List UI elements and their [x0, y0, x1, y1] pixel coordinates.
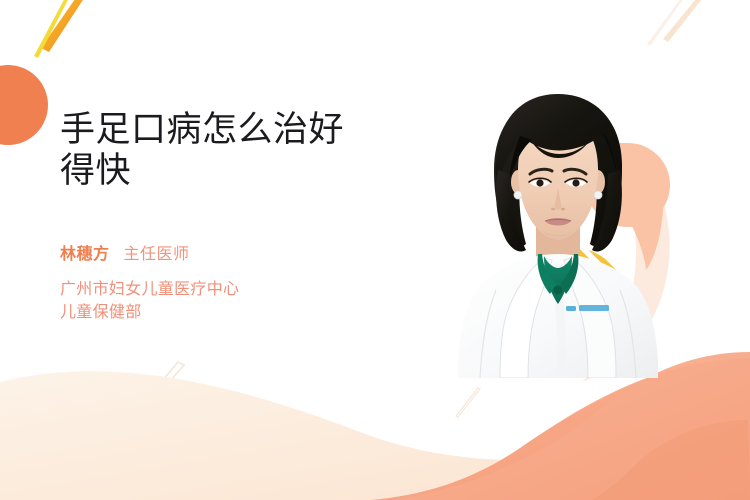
doctor-credit-block: 林穗方主任医师 广州市妇女儿童医疗中心 儿童保健部 [60, 243, 420, 324]
doctor-identity-line: 林穗方主任医师 [60, 243, 420, 267]
doctor-feature-card: 手足口病怎么治好 得快 林穗方主任医师 广州市妇女儿童医疗中心 儿童保健部 [0, 0, 750, 500]
doctor-portrait [432, 78, 684, 378]
earring-left [514, 191, 522, 199]
headline-block: 手足口病怎么治好 得快 [60, 110, 430, 191]
doctor-title: 主任医师 [124, 246, 190, 263]
doctor-portrait-illustration [432, 78, 684, 378]
earring-right [594, 191, 602, 199]
doctor-affiliation: 广州市妇女儿童医疗中心 儿童保健部 [60, 278, 420, 324]
doctor-name: 林穗方 [60, 246, 110, 263]
page-title: 手足口病怎么治好 得快 [60, 110, 430, 191]
